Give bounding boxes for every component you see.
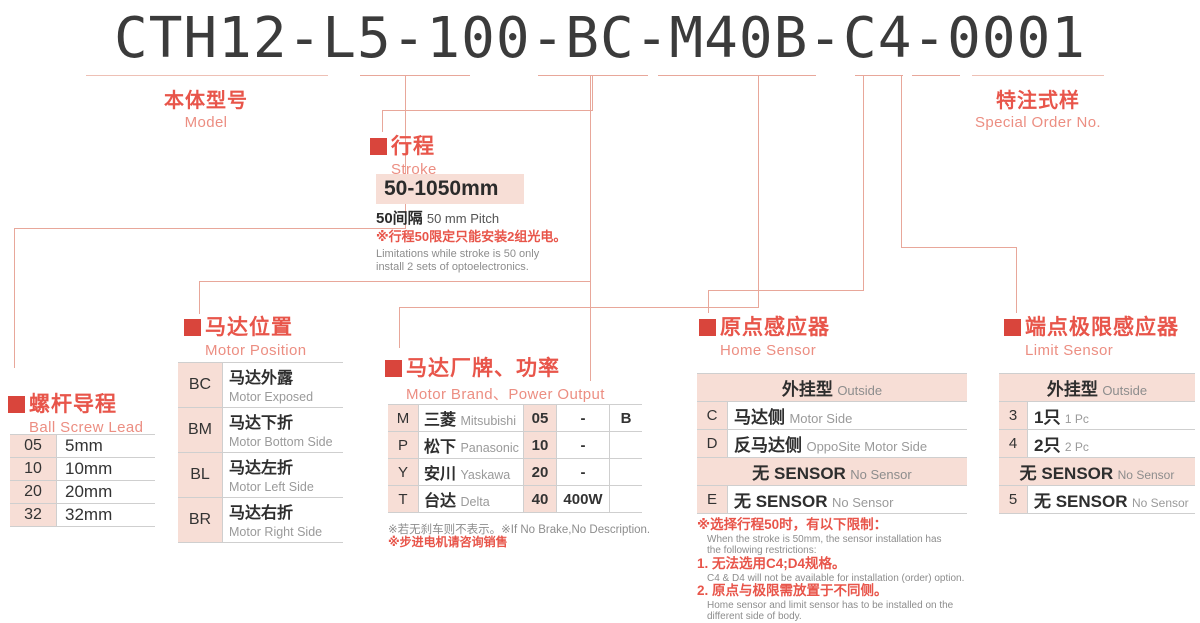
ballscrew-label: 5mm — [57, 435, 156, 458]
motorposition-label-cn: 马达外露 — [229, 370, 293, 387]
motorbrand-note1-en: ※If No Brake,No Description. — [501, 524, 650, 536]
motorposition-code: BR — [178, 498, 223, 543]
limitsensor-label: 无 SENSOR No Sensor — [1028, 486, 1196, 514]
table-row: M 三菱 Mitsubishi 05 - B — [388, 405, 642, 432]
stroke-pitch-cn: 50间隔 — [376, 210, 423, 227]
table-row: 32 32mm — [10, 504, 155, 527]
limitsensor-code: 4 — [999, 430, 1028, 458]
homesensor-table: 外挂型 Outside C 马达侧 Motor Side D 反马达侧 Oppo… — [697, 373, 967, 514]
motorbrand-code: T — [388, 486, 419, 513]
table-row-band: 无 SENSOR No Sensor — [999, 458, 1195, 486]
homesensor-label-cn: 马达侧 — [734, 408, 785, 427]
homesensor-note-2-en2: different side of body. — [707, 610, 802, 623]
table-row: Y 安川 Yaskawa 20 - — [388, 459, 642, 486]
motorposition-label-en: Motor Exposed — [229, 390, 313, 404]
connector-special-underline — [972, 75, 1104, 76]
table-row: 5 无 SENSOR No Sensor — [999, 486, 1195, 514]
limitsensor-band-nosensor: 无 SENSOR No Sensor — [999, 458, 1195, 486]
connector-brand-underline — [658, 75, 758, 76]
homesensor-label: 反马达侧 OppoSite Motor Side — [728, 430, 968, 458]
table-row-band: 外挂型 Outside — [999, 374, 1195, 402]
table-row: BL 马达左折 Motor Left Side — [178, 453, 343, 498]
motorbrand-brake — [610, 486, 643, 513]
limitsensor-band-en: Outside — [1102, 383, 1147, 398]
motorbrand-power-code: 05 — [524, 405, 557, 432]
motorbrand-power: - — [557, 432, 610, 459]
motorbrand-power: - — [557, 405, 610, 432]
homesensor-label-en: Motor Side — [789, 411, 852, 426]
limitsensor-label: 1只 1 Pc — [1028, 402, 1196, 430]
motorbrand-power-code: 40 — [524, 486, 557, 513]
motorbrand-name-cn: 三菱 — [424, 412, 456, 429]
connector-home-horiz — [708, 290, 864, 291]
motorbrand-code: M — [388, 405, 419, 432]
stroke-note-cn: ※行程50限定只能安装2组光电。 — [376, 229, 566, 245]
motorposition-label-en: Motor Left Side — [229, 480, 314, 494]
limitsensor-code: 5 — [999, 486, 1028, 514]
motorbrand-note-2: ※步进电机请咨询销售 — [388, 535, 508, 550]
limitsensor-label-cn: 1只 — [1034, 408, 1060, 427]
homesensor-band-en: Outside — [837, 383, 882, 398]
stroke-pitch: 50间隔 50 mm Pitch — [376, 207, 499, 228]
ballscrew-code: 05 — [10, 435, 57, 458]
section-limitsensor-heading: 端点极限感应器 Limit Sensor — [1004, 311, 1179, 359]
connector-limit-horiz — [901, 247, 1017, 248]
motorposition-label: 马达下折 Motor Bottom Side — [223, 408, 344, 453]
ballscrew-label: 20mm — [57, 481, 156, 504]
motorbrand-brake — [610, 459, 643, 486]
motorbrand-name: 安川 Yaskawa — [419, 459, 524, 486]
limitsensor-label: 2只 2 Pc — [1028, 430, 1196, 458]
section-stroke-title-cn: 行程 — [391, 135, 435, 158]
homesensor-band2-en: No Sensor — [850, 467, 911, 482]
motorposition-label-en: Motor Right Side — [229, 525, 322, 539]
section-ballscrew-title-cn: 螺杆导程 — [29, 393, 117, 416]
table-row: 3 1只 1 Pc — [999, 402, 1195, 430]
table-row: E 无 SENSOR No Sensor — [697, 486, 967, 514]
homesensor-band-outside: 外挂型 Outside — [697, 374, 967, 402]
ballscrew-label: 10mm — [57, 458, 156, 481]
bullet-square-icon — [385, 360, 402, 377]
section-model-title-cn: 本体型号 — [106, 84, 306, 113]
limitsensor-code: 3 — [999, 402, 1028, 430]
section-homesensor-title-en: Home Sensor — [720, 342, 830, 359]
homesensor-label-cn: 反马达侧 — [734, 436, 802, 455]
connector-stroke-down — [382, 110, 383, 132]
motorbrand-power-code: 10 — [524, 432, 557, 459]
homesensor-band-cn: 外挂型 — [782, 380, 833, 399]
ballscrew-code: 20 — [10, 481, 57, 504]
motorbrand-name: 松下 Panasonic — [419, 432, 524, 459]
table-row: C 马达侧 Motor Side — [697, 402, 967, 430]
table-row: BM 马达下折 Motor Bottom Side — [178, 408, 343, 453]
section-special-title-cn: 特注式样 — [938, 84, 1138, 113]
section-limitsensor-title-en: Limit Sensor — [1025, 342, 1179, 359]
connector-home-down — [708, 290, 709, 313]
motorposition-label: 马达右折 Motor Right Side — [223, 498, 344, 543]
motorbrand-name: 三菱 Mitsubishi — [419, 405, 524, 432]
homesensor-note-1-cn: 1. 无法选用C4;D4规格。 — [697, 556, 846, 573]
connector-bc-down — [199, 281, 200, 314]
motorposition-label-en: Motor Bottom Side — [229, 435, 333, 449]
motorbrand-code: Y — [388, 459, 419, 486]
table-row: 05 5mm — [10, 435, 155, 458]
connector-bc-vert — [590, 75, 591, 381]
motorposition-table: BC 马达外露 Motor Exposed BM 马达下折 Motor Bott… — [178, 362, 343, 543]
homesensor-label: 马达侧 Motor Side — [728, 402, 968, 430]
connector-lead-horiz — [14, 228, 406, 229]
connector-c4-underline-b — [912, 75, 960, 76]
homesensor-label: 无 SENSOR No Sensor — [728, 486, 968, 514]
ballscrew-label: 32mm — [57, 504, 156, 527]
section-motorposition-heading: 马达位置 Motor Position — [184, 311, 306, 359]
bullet-square-icon — [370, 138, 387, 155]
stroke-note-en2: install 2 sets of optoelectronics. — [376, 260, 529, 274]
table-row: D 反马达侧 OppoSite Motor Side — [697, 430, 967, 458]
motorbrand-name-en: Delta — [460, 495, 489, 509]
section-special-order: 特注式样 Special Order No. — [938, 84, 1138, 131]
motorbrand-brake: B — [610, 405, 643, 432]
motorbrand-name-cn: 松下 — [424, 439, 456, 456]
section-motorbrand-title-cn: 马达厂牌、功率 — [406, 357, 560, 380]
product-code: CTH12-L5-100-BC-M40B-C4-0001 — [0, 6, 1200, 71]
limitsensor-table: 外挂型 Outside 3 1只 1 Pc 4 2只 2 Pc 无 SENSOR… — [999, 373, 1195, 514]
limitsensor-band2-en: No Sensor — [1118, 468, 1175, 482]
table-row-band: 外挂型 Outside — [697, 374, 967, 402]
connector-home-drop — [863, 75, 864, 290]
motorbrand-name-en: Panasonic — [460, 441, 518, 455]
connector-stroke-underline — [538, 75, 648, 76]
bullet-square-icon — [184, 319, 201, 336]
connector-lead-underline — [360, 75, 470, 76]
connector-limit-down — [1016, 247, 1017, 313]
homesensor-band-nosensor: 无 SENSOR No Sensor — [697, 458, 967, 486]
motorposition-code: BC — [178, 363, 223, 408]
motorposition-label: 马达左折 Motor Left Side — [223, 453, 344, 498]
limitsensor-band2-cn: 无 SENSOR — [1020, 464, 1114, 483]
section-motorbrand-title-en: Motor Brand、Power Output — [406, 383, 605, 404]
limitsensor-label-cn: 2只 — [1034, 436, 1060, 455]
section-motorposition-title-en: Motor Position — [205, 342, 306, 359]
section-limitsensor-title-cn: 端点极限感应器 — [1025, 316, 1179, 339]
homesensor-band2-cn: 无 SENSOR — [752, 464, 846, 483]
motorbrand-power: 400W — [557, 486, 610, 513]
homesensor-code: E — [697, 486, 728, 514]
connector-brand-horiz — [399, 307, 759, 308]
table-row: P 松下 Panasonic 10 - — [388, 432, 642, 459]
limitsensor-label-en: No Sensor — [1132, 496, 1189, 510]
section-motorposition-title-cn: 马达位置 — [205, 316, 293, 339]
connector-stroke-drop — [592, 75, 593, 110]
section-ballscrew-heading: 螺杆导程 Ball Screw Lead — [8, 388, 143, 436]
motorposition-code: BM — [178, 408, 223, 453]
section-model: 本体型号 Model — [106, 84, 306, 131]
table-row: T 台达 Delta 40 400W — [388, 486, 642, 513]
table-row: BR 马达右折 Motor Right Side — [178, 498, 343, 543]
connector-bc-horiz — [199, 281, 591, 282]
table-row: 10 10mm — [10, 458, 155, 481]
homesensor-code: C — [697, 402, 728, 430]
section-stroke-heading: 行程 Stroke — [370, 130, 437, 178]
homesensor-note-title-cn: ※选择行程50时，有以下限制： — [697, 517, 887, 534]
connector-stroke-horiz — [382, 110, 593, 111]
motorbrand-name-en: Mitsubishi — [460, 414, 516, 428]
connector-brand-down — [399, 307, 400, 348]
connector-brand-drop — [758, 75, 759, 307]
limitsensor-label-en: 1 Pc — [1065, 412, 1089, 426]
bullet-square-icon — [8, 396, 25, 413]
motorposition-label-cn: 马达右折 — [229, 505, 293, 522]
connector-limit-drop — [901, 75, 902, 247]
motorbrand-table: M 三菱 Mitsubishi 05 - B P 松下 Panasonic 10… — [388, 404, 642, 513]
connector-model-underline — [86, 75, 328, 76]
section-motorbrand-heading: 马达厂牌、功率 Motor Brand、Power Output — [385, 352, 605, 404]
homesensor-note-2-cn: 2. 原点与极限需放置于不同侧。 — [697, 583, 888, 600]
homesensor-label-en: OppoSite Motor Side — [806, 439, 927, 454]
motorbrand-name-en: Yaskawa — [460, 468, 510, 482]
limitsensor-band-outside: 外挂型 Outside — [999, 374, 1195, 402]
limitsensor-label-cn: 无 SENSOR — [1034, 492, 1128, 511]
connector-lead-down — [14, 228, 15, 368]
ballscrew-code: 10 — [10, 458, 57, 481]
stroke-pitch-en: 50 mm Pitch — [427, 211, 499, 226]
bullet-square-icon — [699, 319, 716, 336]
homesensor-code: D — [697, 430, 728, 458]
section-model-title-en: Model — [106, 114, 306, 131]
table-row: 20 20mm — [10, 481, 155, 504]
table-row-band: 无 SENSOR No Sensor — [697, 458, 967, 486]
motorbrand-name-cn: 台达 — [424, 493, 456, 510]
motorbrand-code: P — [388, 432, 419, 459]
section-special-title-en: Special Order No. — [938, 114, 1138, 131]
motorbrand-name: 台达 Delta — [419, 486, 524, 513]
table-row: 4 2只 2 Pc — [999, 430, 1195, 458]
homesensor-label-en: No Sensor — [832, 495, 893, 510]
limitsensor-band-cn: 外挂型 — [1047, 380, 1098, 399]
motorbrand-power: - — [557, 459, 610, 486]
motorposition-label: 马达外露 Motor Exposed — [223, 363, 344, 408]
motorbrand-power-code: 20 — [524, 459, 557, 486]
bullet-square-icon — [1004, 319, 1021, 336]
homesensor-label-cn: 无 SENSOR — [734, 492, 828, 511]
ballscrew-table: 05 5mm 10 10mm 20 20mm 32 32mm — [10, 434, 155, 527]
motorposition-label-cn: 马达左折 — [229, 460, 293, 477]
stroke-value-box: 50-1050mm — [376, 174, 524, 204]
motorposition-code: BL — [178, 453, 223, 498]
motorbrand-name-cn: 安川 — [424, 466, 456, 483]
table-row: BC 马达外露 Motor Exposed — [178, 363, 343, 408]
section-homesensor-title-cn: 原点感应器 — [720, 316, 830, 339]
ballscrew-code: 32 — [10, 504, 57, 527]
limitsensor-label-en: 2 Pc — [1065, 440, 1089, 454]
motorposition-label-cn: 马达下折 — [229, 415, 293, 432]
section-homesensor-heading: 原点感应器 Home Sensor — [699, 311, 830, 359]
motorbrand-brake — [610, 432, 643, 459]
